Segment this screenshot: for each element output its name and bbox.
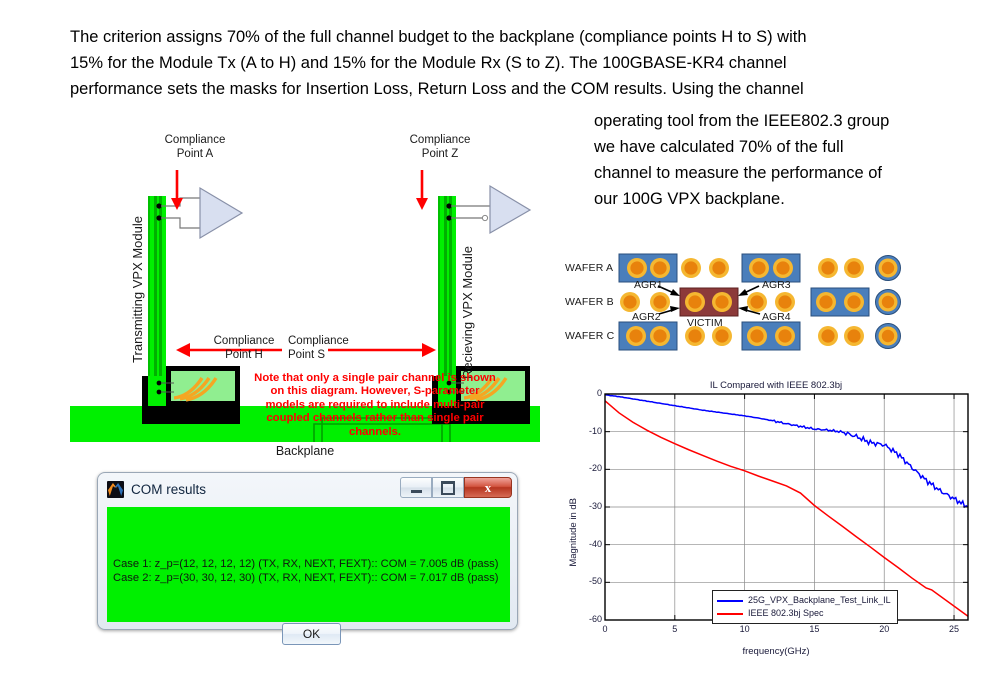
compliance-s-line1: Compliance [288, 335, 349, 347]
vpx-channel-schematic: Compliance Point A Compliance Point Z Co… [70, 128, 540, 458]
legend-label-0: 25G_VPX_Backplane_Test_Link_IL [748, 594, 891, 607]
close-button[interactable]: x [464, 477, 512, 498]
wafer-row-label-a: WAFER A [565, 262, 613, 274]
compliance-z-arrowhead [416, 198, 428, 210]
wafer-b-pin-3 [747, 292, 767, 312]
wafer-c-pin-5 [747, 326, 767, 346]
wafer-a-pin-7 [818, 258, 838, 278]
dialog-title: COM results [131, 482, 206, 497]
chart-legend: 25G_VPX_Backplane_Test_Link_IL IEEE 802.… [712, 590, 898, 624]
x-tick-label: 10 [733, 624, 757, 634]
wafer-c-pin-7 [818, 326, 838, 346]
wafer-b-pin-1 [620, 292, 640, 312]
backplane-label: Backplane [230, 444, 380, 458]
x-tick-label: 5 [663, 624, 687, 634]
legend-swatch-0 [717, 600, 743, 602]
intro-line-3: performance sets the masks for Insertion… [70, 76, 913, 102]
tx-lead-lower [161, 218, 200, 228]
intro-line-2: 15% for the Module Tx (A to H) and 15% f… [70, 50, 913, 76]
y-tick-label: -30 [578, 501, 602, 511]
agr2-arrowhead [670, 306, 680, 312]
legend-item-1: IEEE 802.3bj Spec [717, 607, 891, 620]
tx-top-contact-1 [156, 203, 161, 208]
chart-x-axis-label: frequency(GHz) [572, 646, 980, 657]
wafer-b-pin-6 [844, 292, 864, 312]
victim-label: VICTIM [687, 317, 723, 329]
com-result-line-2: Case 2: z_p=(30, 30, 12, 30) (TX, RX, NE… [113, 571, 499, 585]
series-line-1 [605, 401, 968, 616]
diagram-note: Note that only a single pair channel is … [254, 372, 496, 439]
dialog-titlebar[interactable]: COM results x [101, 476, 514, 503]
wafer-b-pin-5 [816, 292, 836, 312]
compliance-h-line1: Compliance [214, 335, 275, 347]
series-line-0 [605, 395, 968, 507]
rx-top-contact-2 [446, 215, 451, 220]
compliance-z-line1: Compliance [410, 134, 471, 146]
y-tick-label: -60 [578, 614, 602, 624]
intro-right-line-4: our 100G VPX backplane. [594, 186, 913, 212]
rx-top-contact-1 [446, 203, 451, 208]
wafer-b-pin-2 [650, 292, 670, 312]
com-result-line-1: Case 1: z_p=(12, 12, 12, 12) (TX, RX, NE… [113, 557, 499, 571]
wafer-a-pin-6 [773, 258, 793, 278]
agr3-arrowhead [738, 289, 748, 296]
x-tick-label: 20 [872, 624, 896, 634]
maximize-icon [441, 481, 455, 495]
agr3-label: AGR3 [762, 279, 791, 291]
wafer-row-label-b: WAFER B [565, 296, 614, 308]
legend-swatch-1 [717, 613, 743, 615]
wafer-a-pin-2 [650, 258, 670, 278]
tx-top-contact-2 [156, 215, 161, 220]
wafer-b-pin-7 [876, 290, 901, 315]
compliance-point-a-label: Compliance Point A [145, 133, 245, 161]
x-tick-label: 25 [942, 624, 966, 634]
il-chart-panel: IL Compared with IEEE 802.3bj Magnitude … [572, 380, 980, 665]
compliance-a-line2: Point A [177, 148, 213, 160]
window-controls[interactable]: x [400, 477, 512, 499]
wafer-c-pin-4 [712, 326, 732, 346]
agr4-label: AGR4 [762, 311, 791, 323]
x-tick-label: 0 [593, 624, 617, 634]
agr4-arrowhead [738, 306, 748, 312]
y-tick-label: -20 [578, 463, 602, 473]
rx-receiver-amplifier [490, 186, 530, 233]
tx-bottom-contact-2 [157, 390, 162, 395]
maximize-button[interactable] [432, 477, 464, 498]
compliance-h-line2: Point H [225, 349, 263, 361]
rx-module-label: Recieving VPX Module [460, 246, 475, 379]
close-icon: x [485, 480, 492, 496]
tx-module-label: Transmitting VPX Module [130, 216, 145, 363]
compliance-h-arrowhead [176, 343, 190, 357]
intro-right-line-3: channel to measure the performance of [594, 160, 913, 186]
intro-line-1: The criterion assigns 70% of the full ch… [70, 24, 913, 50]
compliance-point-s-label: Compliance Point S [288, 334, 376, 362]
legend-label-1: IEEE 802.3bj Spec [748, 607, 824, 620]
wafer-svg [566, 246, 916, 358]
intro-right-line-1: operating tool from the IEEE802.3 group [594, 108, 913, 134]
compliance-a-arrowhead [171, 198, 183, 210]
wafer-a-pin-8 [844, 258, 864, 278]
wafer-crosstalk-diagram: WAFER A WAFER B WAFER C AGR1 AGR3 AGR2 A… [566, 246, 916, 358]
victim-pin-1 [685, 292, 705, 312]
compliance-point-h-label: Compliance Point H [200, 334, 288, 362]
tx-bottom-contact-1 [157, 381, 162, 386]
x-tick-label: 15 [802, 624, 826, 634]
agr1-label: AGR1 [634, 279, 663, 291]
minimize-icon [411, 490, 422, 493]
compliance-z-line2: Point Z [422, 148, 458, 160]
com-result-text: Case 1: z_p=(12, 12, 12, 12) (TX, RX, NE… [113, 557, 499, 585]
compliance-s-arrowhead [422, 343, 436, 357]
minimize-button[interactable] [400, 477, 432, 498]
y-tick-label: -40 [578, 539, 602, 549]
wafer-c-pin-9 [876, 324, 901, 349]
wafer-c-pin-2 [650, 326, 670, 346]
wafer-b-pin-4 [775, 292, 795, 312]
agr2-label: AGR2 [632, 311, 661, 323]
wafer-a-pin-4 [709, 258, 729, 278]
rx-lead-node [482, 215, 487, 220]
intro-paragraph: The criterion assigns 70% of the full ch… [70, 24, 913, 102]
wafer-c-pin-6 [775, 326, 795, 346]
compliance-a-line1: Compliance [165, 134, 226, 146]
wafer-a-pin-3 [681, 258, 701, 278]
wafer-row-label-c: WAFER C [565, 330, 614, 342]
compliance-s-line2: Point S [288, 349, 325, 361]
tx-connector-base [142, 406, 240, 424]
matlab-icon [107, 481, 124, 498]
intro-paragraph-right: operating tool from the IEEE802.3 group … [594, 108, 913, 212]
chart-title: IL Compared with IEEE 802.3bj [572, 380, 980, 391]
intro-right-line-2: we have calculated 70% of the full [594, 134, 913, 160]
agr1-arrowhead [670, 289, 680, 296]
legend-item-0: 25G_VPX_Backplane_Test_Link_IL [717, 594, 891, 607]
dialog-body: Case 1: z_p=(12, 12, 12, 12) (TX, RX, NE… [107, 507, 510, 622]
com-results-dialog[interactable]: COM results x Case 1: z_p=(12, 12, 12, 1… [97, 472, 518, 630]
tx-driver-amplifier [200, 188, 242, 238]
compliance-point-z-label: Compliance Point Z [390, 133, 490, 161]
wafer-c-pin-8 [844, 326, 864, 346]
ok-button[interactable]: OK [282, 623, 341, 645]
y-tick-label: -10 [578, 426, 602, 436]
wafer-a-pin-5 [749, 258, 769, 278]
wafer-c-pin-3 [685, 326, 705, 346]
wafer-a-pin-1 [627, 258, 647, 278]
wafer-a-pin-9 [876, 256, 901, 281]
wafer-c-pin-1 [626, 326, 646, 346]
victim-pin-2 [712, 292, 732, 312]
y-tick-label: 0 [578, 388, 602, 398]
y-tick-label: -50 [578, 576, 602, 586]
